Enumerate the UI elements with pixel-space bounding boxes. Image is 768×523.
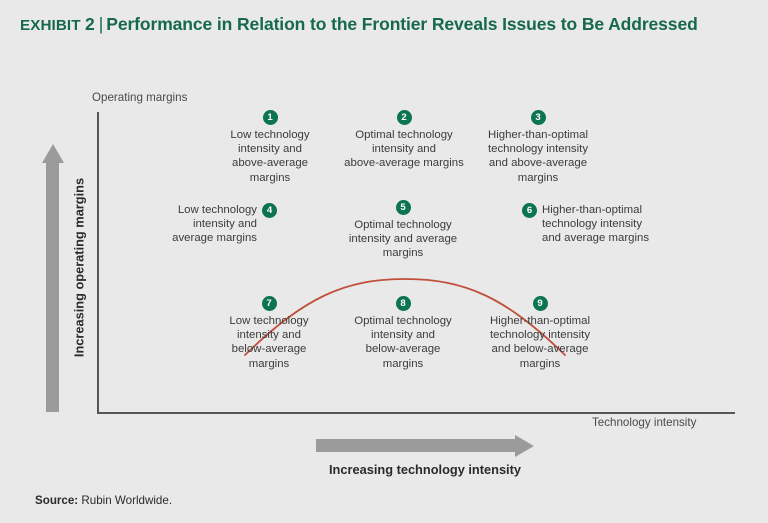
- source-note: Source: Rubin Worldwide.: [35, 494, 172, 507]
- exhibit-figure: EXHIBIT 2|Performance in Relation to the…: [0, 0, 768, 523]
- source-value: Rubin Worldwide.: [81, 494, 172, 507]
- cell-label-8: Optimal technology intensity and below-a…: [333, 314, 473, 371]
- y-axis-title: Operating margins: [92, 91, 187, 104]
- quadrant-cell-7: 7 Low technology intensity and below-ave…: [210, 296, 328, 371]
- cell-badge-3: 3: [531, 110, 546, 125]
- quadrant-cell-1: 1 Low technology intensity and above-ave…: [214, 110, 326, 185]
- quadrant-cell-9: 9 Higher-than-optimal technology intensi…: [470, 296, 610, 371]
- cell-badge-8: 8: [396, 296, 411, 311]
- arrow-shaft: [316, 439, 516, 452]
- cell-label-5: Optimal technology intensity and average…: [333, 218, 473, 261]
- x-arrow-label: Increasing technology intensity: [300, 462, 550, 477]
- quadrant-cell-2: 2 Optimal technology intensity and above…: [330, 110, 478, 171]
- arrow-right-icon: [515, 435, 534, 457]
- cell-label-7: Low technology intensity and below-avera…: [210, 314, 328, 371]
- quadrant-cell-5: 5 Optimal technology intensity and avera…: [333, 200, 473, 261]
- arrow-shaft: [46, 162, 59, 412]
- title-divider: |: [95, 12, 106, 36]
- cell-badge-5: 5: [396, 200, 411, 215]
- cell-badge-9: 9: [533, 296, 548, 311]
- title-headline: Performance in Relation to the Frontier …: [106, 14, 697, 34]
- cell-badge-1: 1: [263, 110, 278, 125]
- exhibit-label: EXHIBIT 2: [20, 17, 95, 34]
- quadrant-cell-4: Low technology intensity and average mar…: [155, 203, 277, 246]
- cell-label-9: Higher-than-optimal technology intensity…: [470, 314, 610, 371]
- y-axis-line: [97, 112, 99, 414]
- cell-label-4: Low technology intensity and average mar…: [172, 203, 257, 246]
- cell-badge-4: 4: [262, 203, 277, 218]
- y-arrow-label: Increasing operating margins: [72, 153, 87, 383]
- x-axis-title: Technology intensity: [592, 416, 696, 429]
- cell-label-2: Optimal technology intensity and above-a…: [330, 128, 478, 171]
- quadrant-cell-6: 6 Higher-than-optimal technology intensi…: [522, 203, 692, 246]
- increasing-operating-margins-arrow: Increasing operating margins: [38, 144, 94, 412]
- source-label: Source:: [35, 494, 78, 507]
- quadrant-cell-3: 3 Higher-than-optimal technology intensi…: [473, 110, 603, 185]
- cell-label-3: Higher-than-optimal technology intensity…: [473, 128, 603, 185]
- increasing-technology-intensity-arrow: Increasing technology intensity: [316, 430, 542, 482]
- x-axis-line: [97, 412, 735, 414]
- arrow-up-icon: [42, 144, 64, 163]
- cell-badge-2: 2: [397, 110, 412, 125]
- quadrant-cell-8: 8 Optimal technology intensity and below…: [333, 296, 473, 371]
- page-title: EXHIBIT 2|Performance in Relation to the…: [20, 12, 735, 38]
- cell-badge-6: 6: [522, 203, 537, 218]
- chart-canvas: Operating margins Technology intensity I…: [0, 72, 768, 472]
- cell-badge-7: 7: [262, 296, 277, 311]
- cell-label-1: Low technology intensity and above-avera…: [214, 128, 326, 185]
- cell-label-6: Higher-than-optimal technology intensity…: [542, 203, 649, 246]
- exhibit-number: 2: [85, 14, 95, 34]
